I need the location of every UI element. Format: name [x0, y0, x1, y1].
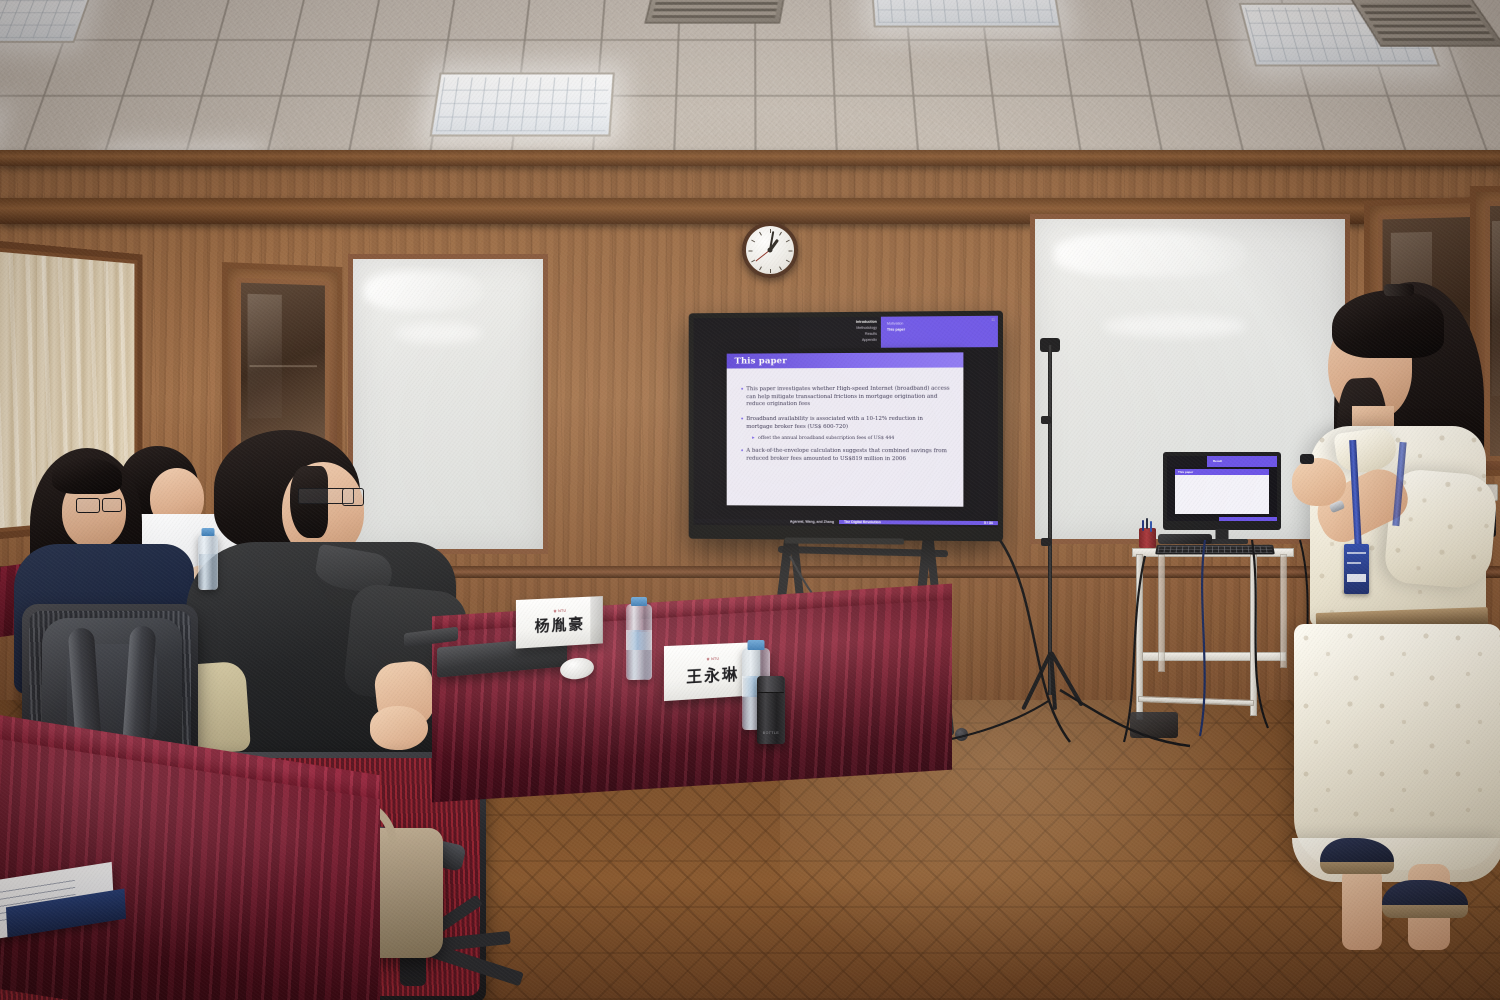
presenter-hand: [1292, 458, 1346, 506]
clock-tick: [759, 266, 762, 270]
name-card-logo: ✿ NTU: [554, 609, 567, 614]
clock-tick: [751, 240, 755, 243]
badge-line: [1347, 574, 1366, 582]
velvet-sheen: [432, 600, 952, 803]
badge-line: [1347, 552, 1366, 554]
skirt-eyelet-pattern: [1294, 624, 1500, 870]
mirrored-nav-left: [1167, 456, 1207, 467]
clock-tick: [759, 232, 762, 236]
mirrored-nav-right: Result: [1207, 456, 1277, 467]
slide-sub-bullet: ▸ offset the annual broadband subscripti…: [752, 435, 951, 442]
clock-tick: [786, 240, 790, 243]
pen-holder: [1139, 528, 1156, 548]
badge-line: [1347, 562, 1361, 564]
glasses-right-lens: [102, 498, 122, 512]
clock-tick: [770, 229, 771, 233]
bullet-text: A back-of-the-envelope calculation sugge…: [746, 448, 951, 464]
table-skirt: [432, 600, 952, 803]
presenter-hair-clip: [1384, 284, 1414, 296]
tripod-clamp-lower[interactable]: [1041, 538, 1051, 546]
conference-badge: [1344, 544, 1369, 594]
shoe-sole: [1382, 905, 1468, 918]
av-cart-post-back-left: [1158, 554, 1165, 672]
cabinet-shelf: [250, 365, 317, 367]
whiteboard-glare-right: [1054, 232, 1246, 277]
tripod-clamp-upper[interactable]: [1041, 416, 1051, 424]
pen: [1142, 520, 1144, 531]
slide-bullet: • Broadband availability is associated w…: [740, 416, 951, 431]
thermos-label: BOTTLE: [757, 731, 785, 735]
clock-tick: [779, 266, 782, 270]
nav-item-this-paper[interactable]: This paper: [887, 326, 998, 333]
slide-nav-subsections[interactable]: Motivation This paper: [881, 316, 998, 348]
slide-body: This paper • This paper investigates whe…: [727, 352, 964, 506]
slide-corner-page: 11: [991, 318, 995, 322]
clock-center-pin: [768, 248, 773, 253]
name-card-name: 杨胤豪: [535, 613, 585, 637]
mirrored-slide-body: This paper: [1175, 469, 1269, 514]
clock-tick: [789, 251, 793, 252]
presenter-shoe-right: [1382, 880, 1468, 918]
pen: [1146, 518, 1148, 529]
slide-title: This paper: [727, 352, 964, 368]
whiteboard-glare-2: [395, 323, 482, 343]
clock-tick: [786, 260, 790, 263]
clock-tick: [779, 232, 782, 236]
tv-cart-caster-4: [955, 728, 968, 741]
presenter-monitor-screen: Result This paper: [1167, 456, 1277, 521]
av-cart-post-front-right: [1250, 554, 1257, 716]
presenter-dress-skirt: [1294, 624, 1500, 870]
bottle-water: [199, 554, 217, 589]
ceiling-light-5: [429, 72, 614, 136]
presenter-hair-fringe: [1332, 290, 1444, 358]
mirrored-footer-left: [1167, 517, 1219, 521]
av-switcher: [1158, 534, 1212, 544]
slide-nav-sections[interactable]: Introduction Methodology Results Appendi…: [799, 317, 881, 349]
desktop-tower: [1130, 712, 1178, 738]
name-card-logo: ✿ NTU: [707, 656, 720, 661]
slide-bullet: • A back-of-the-envelope calculation sug…: [740, 448, 951, 464]
av-cart-brace: [1138, 696, 1254, 706]
slide-content: • This paper investigates whether High-s…: [727, 367, 964, 463]
tripod-pole: [1048, 345, 1052, 695]
bottle-cap: [631, 597, 647, 606]
mirrored-slide-title-bar: This paper: [1175, 469, 1269, 475]
mirrored-slide: Result This paper: [1167, 456, 1277, 521]
name-card-1: ✿ NTU 杨胤豪: [516, 596, 603, 649]
bullet-text: This paper investigates whether High-spe…: [746, 386, 951, 409]
shoe-sole: [1320, 862, 1394, 874]
glasses-lens: [342, 488, 364, 506]
seminar-room-scene: Introduction Methodology Results Appendi…: [0, 0, 1500, 1000]
attendee-hair-front: [52, 458, 122, 494]
keyboard[interactable]: [1155, 545, 1275, 555]
display-mount: [785, 538, 904, 545]
sub-bullet-text: offset the annual broadband subscription…: [758, 435, 894, 442]
presentation-clicker[interactable]: [1300, 454, 1314, 464]
wall-cornice-upper: [0, 150, 1500, 166]
slide-footer-title: The Digital Revolution: [839, 519, 957, 524]
av-cart: [1132, 548, 1294, 723]
glasses-left-lens: [76, 498, 100, 513]
mirrored-slide-title: This paper: [1178, 470, 1193, 474]
whiteboard-glare: [364, 271, 482, 312]
bottle-label: [626, 630, 652, 650]
slide-footer-authors: Agarwal, Wang, and Zhang: [694, 518, 839, 523]
nav-item-appendix[interactable]: Appendix: [799, 337, 877, 344]
pen: [1150, 521, 1152, 532]
slide-navigation-bar: Introduction Methodology Results Appendi…: [799, 316, 998, 349]
slide-footer: Agarwal, Wang, and Zhang The Digital Rev…: [694, 516, 998, 527]
presenter: [1276, 282, 1500, 942]
name-card-name: 王永琳: [686, 660, 739, 687]
water-bottle-3: [198, 534, 218, 590]
presenter-monitor: Result This paper: [1163, 452, 1281, 530]
clock-tick: [749, 251, 753, 252]
bottle-cap: [202, 528, 215, 536]
presenter-leg-left: [1342, 866, 1382, 950]
thermos-cap: [758, 676, 784, 693]
wall-clock: [742, 222, 798, 278]
clock-tick: [770, 269, 771, 273]
ceiling-light-6: [870, 0, 1061, 27]
water-bottle-1: [626, 604, 652, 680]
slide-bullet: • This paper investigates whether High-s…: [740, 386, 951, 409]
display-screen: Introduction Methodology Results Appendi…: [694, 316, 998, 527]
presentation-display: Introduction Methodology Results Appendi…: [689, 311, 1003, 542]
thermos-flask: BOTTLE: [757, 676, 785, 744]
bottle-cap: [748, 640, 765, 650]
slide-footer-page: 5 / 34: [957, 520, 998, 524]
slide: Introduction Methodology Results Appendi…: [694, 316, 998, 527]
bullet-text: Broadband availability is associated wit…: [746, 416, 951, 431]
mirrored-nav-label: Result: [1213, 459, 1222, 463]
hvac-diffuser-2: [644, 0, 789, 24]
name-card-fold: [590, 596, 603, 644]
whiteboard-glare-right-2: [1103, 315, 1246, 337]
